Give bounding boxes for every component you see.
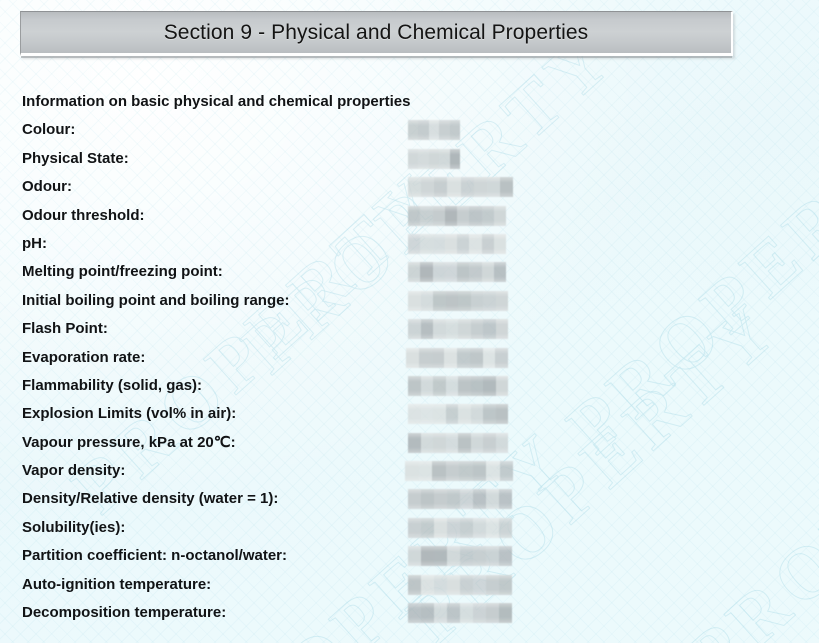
redaction-pixel <box>408 177 421 197</box>
redaction-pixel <box>473 461 487 481</box>
redaction-pixel <box>473 575 486 595</box>
redaction-pixel <box>408 489 421 509</box>
redaction-pixel <box>429 149 439 169</box>
redaction-pixel <box>469 206 481 226</box>
redaction-pixel <box>433 376 446 396</box>
redaction-pixel <box>433 234 445 254</box>
redaction-pixel <box>458 404 471 424</box>
redaction-pixel <box>496 404 509 424</box>
redaction-pixel <box>433 206 445 226</box>
redaction-pixel <box>450 149 460 169</box>
redaction-pixel <box>474 177 487 197</box>
property-row: Initial boiling point and boiling range: <box>22 287 809 315</box>
redaction-pixel <box>434 489 447 509</box>
redaction-pixel <box>483 319 496 339</box>
redaction-pixel <box>446 433 459 453</box>
property-label: Explosion Limits (vol% in air): <box>22 400 236 424</box>
redaction-pixel <box>434 518 447 538</box>
redaction-pixel <box>432 461 446 481</box>
redaction-pixel <box>447 177 460 197</box>
redaction-pixel <box>421 603 434 623</box>
redaction-pixel <box>433 319 446 339</box>
redaction-pixel <box>473 518 486 538</box>
property-value-redacted <box>408 489 512 509</box>
property-value-redacted <box>408 319 508 339</box>
property-value-redacted <box>408 575 512 595</box>
property-label: Auto-ignition temperature: <box>22 571 211 595</box>
redaction-pixel <box>419 461 433 481</box>
property-label: Initial boiling point and boiling range: <box>22 287 289 311</box>
section-header-bar: Section 9 - Physical and Chemical Proper… <box>20 11 733 56</box>
redaction-pixel <box>446 461 460 481</box>
redaction-pixel <box>433 262 445 282</box>
properties-list: Information on basic physical and chemic… <box>22 88 809 627</box>
redaction-pixel <box>444 348 457 368</box>
redaction-pixel <box>445 206 457 226</box>
property-row: Odour threshold: <box>22 202 809 230</box>
redaction-pixel <box>458 376 471 396</box>
redaction-pixel <box>445 234 457 254</box>
redaction-pixel <box>434 177 447 197</box>
property-value-redacted <box>406 348 508 368</box>
document-page: PROPERTYPROPERTYPROPERTYPROPERTYPROPERTY… <box>0 0 819 643</box>
redaction-pixel <box>496 433 509 453</box>
redaction-pixel <box>421 291 434 311</box>
property-label: Colour: <box>22 116 75 140</box>
redaction-pixel <box>421 518 434 538</box>
property-label: Vapour pressure, kPa at 20℃: <box>22 429 236 453</box>
redaction-pixel <box>433 433 446 453</box>
redaction-pixel <box>460 575 473 595</box>
property-value-redacted <box>408 291 508 311</box>
redaction-pixel <box>421 177 434 197</box>
redaction-pixel <box>421 489 434 509</box>
redaction-pixel <box>471 404 484 424</box>
redaction-pixel <box>447 546 460 566</box>
redaction-pixel <box>457 234 469 254</box>
redaction-pixel <box>450 120 460 140</box>
property-label: Melting point/freezing point: <box>22 258 223 282</box>
redaction-pixel <box>494 262 506 282</box>
redaction-pixel <box>434 603 447 623</box>
property-label: Odour threshold: <box>22 202 145 226</box>
property-row: Solubility(ies): <box>22 514 809 542</box>
property-value-redacted <box>408 177 513 197</box>
redaction-pixel <box>460 518 473 538</box>
property-row: Flammability (solid, gas): <box>22 372 809 400</box>
redaction-pixel <box>461 177 474 197</box>
property-label: Flammability (solid, gas): <box>22 372 202 396</box>
property-label: Evaporation rate: <box>22 344 145 368</box>
redaction-pixel <box>483 291 496 311</box>
property-label: Partition coefficient: n-octanol/water: <box>22 542 287 566</box>
redaction-pixel <box>447 489 460 509</box>
redaction-pixel <box>500 461 514 481</box>
redaction-pixel <box>473 546 486 566</box>
redaction-pixel <box>408 518 421 538</box>
property-row: Odour: <box>22 173 809 201</box>
redaction-pixel <box>486 575 499 595</box>
redaction-pixel <box>460 546 473 566</box>
redaction-pixel <box>446 404 459 424</box>
property-label: Flash Point: <box>22 315 108 339</box>
redaction-pixel <box>421 319 434 339</box>
property-row: Explosion Limits (vol% in air): <box>22 400 809 428</box>
property-label: Decomposition temperature: <box>22 599 226 623</box>
redaction-pixel <box>408 319 421 339</box>
redaction-pixel <box>458 319 471 339</box>
property-row: Decomposition temperature: <box>22 599 809 627</box>
property-value-redacted <box>408 376 508 396</box>
redaction-pixel <box>408 433 421 453</box>
redaction-pixel <box>499 603 512 623</box>
redaction-pixel <box>483 376 496 396</box>
redaction-pixel <box>446 291 459 311</box>
property-label: Physical State: <box>22 145 129 169</box>
redaction-pixel <box>419 348 432 368</box>
redaction-pixel <box>460 489 473 509</box>
redaction-pixel <box>457 206 469 226</box>
redaction-pixel <box>408 376 421 396</box>
redaction-pixel <box>460 603 473 623</box>
property-row: Vapor density: <box>22 457 809 485</box>
redaction-pixel <box>439 149 449 169</box>
property-row: Colour: <box>22 116 809 144</box>
redaction-pixel <box>432 348 445 368</box>
redaction-pixel <box>408 291 421 311</box>
redaction-pixel <box>496 291 509 311</box>
redaction-pixel <box>494 234 506 254</box>
redaction-pixel <box>418 149 428 169</box>
redaction-pixel <box>499 489 512 509</box>
section-title: Section 9 - Physical and Chemical Proper… <box>164 21 589 45</box>
redaction-pixel <box>447 575 460 595</box>
redaction-pixel <box>496 319 509 339</box>
redaction-pixel <box>487 177 500 197</box>
property-value-redacted <box>408 518 512 538</box>
redaction-pixel <box>433 404 446 424</box>
property-value-redacted <box>408 120 460 140</box>
redaction-pixel <box>494 206 506 226</box>
redaction-pixel <box>470 348 483 368</box>
redaction-pixel <box>445 262 457 282</box>
redaction-pixel <box>408 262 420 282</box>
property-row: Physical State: <box>22 145 809 173</box>
property-value-redacted <box>408 262 506 282</box>
property-label: Vapor density: <box>22 457 125 481</box>
intro-row: Information on basic physical and chemic… <box>22 88 809 116</box>
redaction-pixel <box>499 575 512 595</box>
redaction-pixel <box>446 376 459 396</box>
property-value-redacted <box>405 461 513 481</box>
section-intro-text: Information on basic physical and chemic… <box>22 88 410 112</box>
redaction-pixel <box>483 348 496 368</box>
redaction-pixel <box>421 546 434 566</box>
redaction-pixel <box>418 120 428 140</box>
redaction-pixel <box>420 206 432 226</box>
redaction-pixel <box>421 575 434 595</box>
property-row: Density/Relative density (water = 1): <box>22 485 809 513</box>
redaction-pixel <box>406 348 419 368</box>
property-value-redacted <box>408 603 512 623</box>
redaction-pixel <box>473 603 486 623</box>
property-value-redacted <box>408 546 512 566</box>
redaction-pixel <box>408 149 418 169</box>
redaction-pixel <box>486 603 499 623</box>
redaction-pixel <box>483 404 496 424</box>
redaction-pixel <box>486 461 500 481</box>
redaction-pixel <box>408 120 418 140</box>
redaction-pixel <box>457 262 469 282</box>
property-row: Partition coefficient: n-octanol/water: <box>22 542 809 570</box>
property-label: Density/Relative density (water = 1): <box>22 485 278 509</box>
redaction-pixel <box>469 262 481 282</box>
property-row: Vapour pressure, kPa at 20℃: <box>22 429 809 457</box>
redaction-pixel <box>471 433 484 453</box>
redaction-pixel <box>499 518 512 538</box>
redaction-pixel <box>496 376 509 396</box>
redaction-pixel <box>471 291 484 311</box>
redaction-pixel <box>482 234 494 254</box>
redaction-pixel <box>429 120 439 140</box>
redaction-pixel <box>421 376 434 396</box>
redaction-pixel <box>439 120 449 140</box>
redaction-pixel <box>408 546 421 566</box>
redaction-pixel <box>408 234 420 254</box>
redaction-pixel <box>471 376 484 396</box>
property-label: Solubility(ies): <box>22 514 125 538</box>
property-row: pH: <box>22 230 809 258</box>
redaction-pixel <box>405 461 419 481</box>
property-value-redacted <box>408 149 460 169</box>
redaction-pixel <box>408 575 421 595</box>
property-row: Flash Point: <box>22 315 809 343</box>
redaction-pixel <box>420 234 432 254</box>
redaction-pixel <box>499 546 512 566</box>
property-value-redacted <box>408 234 506 254</box>
redaction-pixel <box>469 234 481 254</box>
redaction-pixel <box>482 262 494 282</box>
property-row: Evaporation rate: <box>22 344 809 372</box>
redaction-pixel <box>408 404 421 424</box>
property-label: Odour: <box>22 173 72 197</box>
redaction-pixel <box>446 319 459 339</box>
redaction-pixel <box>408 603 421 623</box>
redaction-pixel <box>421 404 434 424</box>
redaction-pixel <box>421 433 434 453</box>
property-row: Melting point/freezing point: <box>22 258 809 286</box>
redaction-pixel <box>420 262 432 282</box>
redaction-pixel <box>447 603 460 623</box>
redaction-pixel <box>408 206 420 226</box>
redaction-pixel <box>473 489 486 509</box>
redaction-pixel <box>471 319 484 339</box>
redaction-pixel <box>447 518 460 538</box>
redaction-pixel <box>433 291 446 311</box>
property-value-redacted <box>408 433 508 453</box>
property-value-redacted <box>408 206 506 226</box>
redaction-pixel <box>495 348 508 368</box>
redaction-pixel <box>482 206 494 226</box>
redaction-pixel <box>486 518 499 538</box>
redaction-pixel <box>459 461 473 481</box>
property-row: Auto-ignition temperature: <box>22 571 809 599</box>
redaction-pixel <box>486 546 499 566</box>
redaction-pixel <box>457 348 470 368</box>
redaction-pixel <box>434 546 447 566</box>
redaction-pixel <box>486 489 499 509</box>
property-label: pH: <box>22 230 47 254</box>
redaction-pixel <box>434 575 447 595</box>
redaction-pixel <box>500 177 513 197</box>
redaction-pixel <box>483 433 496 453</box>
property-value-redacted <box>408 404 508 424</box>
redaction-pixel <box>458 433 471 453</box>
redaction-pixel <box>458 291 471 311</box>
